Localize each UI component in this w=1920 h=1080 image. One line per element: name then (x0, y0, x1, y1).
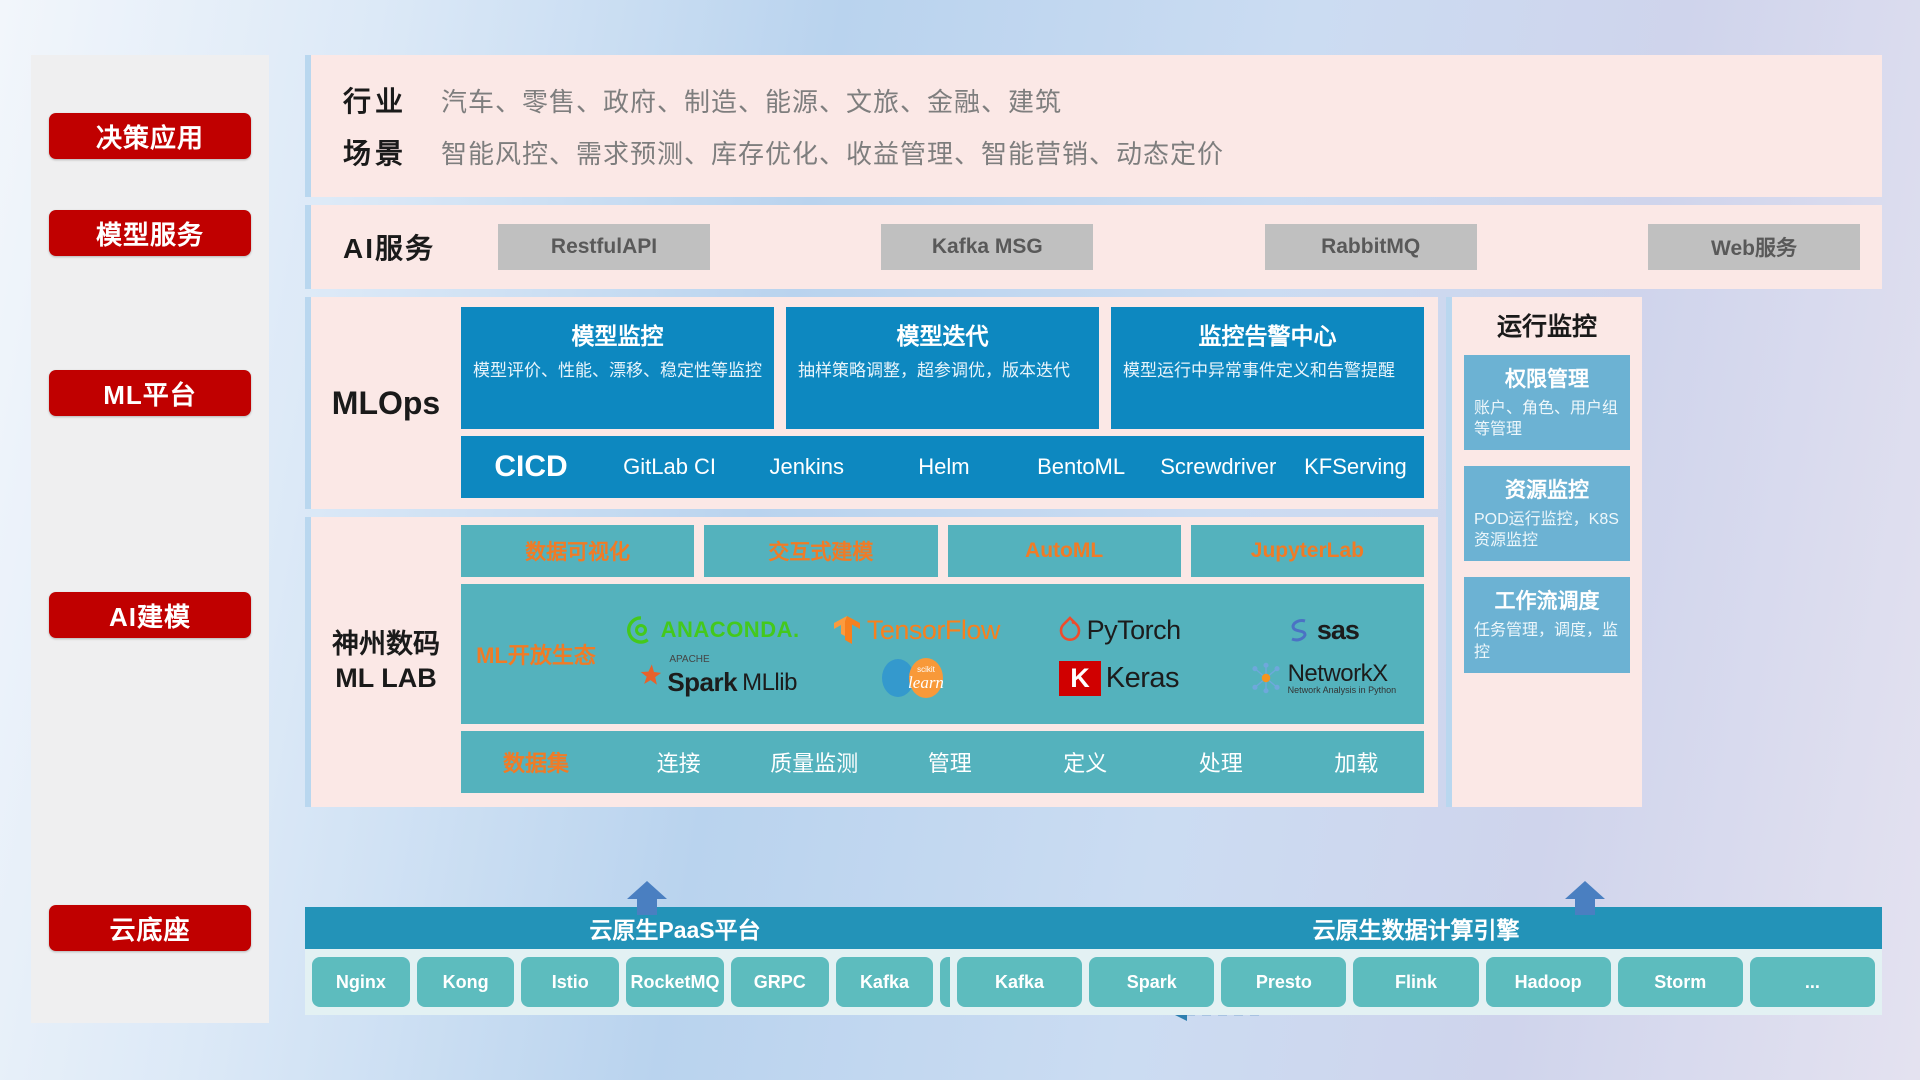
service-chip-kafka-msg[interactable]: Kafka MSG (881, 224, 1093, 270)
industry-value: 汽车、零售、政府、制造、能源、文旅、金融、建筑 (441, 82, 1062, 119)
cicd-item-gitlab-ci[interactable]: GitLab CI (601, 456, 738, 478)
industry-label: 行业 (311, 80, 441, 120)
tensorflow-icon (832, 614, 862, 646)
mlops-card-alert-center[interactable]: 监控告警中心 模型运行中异常事件定义和告警提醒 (1111, 307, 1424, 429)
dataset-item-define[interactable]: 定义 (1018, 746, 1154, 778)
scikit-learn-icon: scikit learn (876, 654, 956, 702)
tensorflow-logo: TensorFlow (814, 614, 1017, 646)
paas-chip-istio[interactable]: Istio (521, 957, 619, 1007)
decision-application-band: 行业 汽车、零售、政府、制造、能源、文旅、金融、建筑 场景 智能风控、需求预测、… (305, 55, 1882, 197)
keras-mark: K (1059, 661, 1101, 696)
scikit-learn-logo: scikit learn (814, 654, 1017, 702)
dataset-item-manage[interactable]: 管理 (882, 746, 1018, 778)
compute-chip-more[interactable]: ... (1750, 957, 1875, 1007)
card-title: 权限管理 (1474, 363, 1620, 393)
cicd-item-bentoml[interactable]: BentoML (1013, 456, 1150, 478)
paas-header: 云原生PaaS平台 (305, 907, 1045, 949)
monitor-card-workflow[interactable]: 工作流调度 任务管理，调度，监控 (1464, 577, 1630, 672)
compute-chip-flink[interactable]: Flink (1353, 957, 1478, 1007)
ml-ecosystem-label: ML开放生态 (461, 638, 611, 670)
card-title: 模型监控 (473, 317, 762, 351)
pytorch-icon (1058, 616, 1082, 644)
paas-chip-list: Nginx Kong Istio RocketMQ GRPC Kafka ... (305, 949, 1045, 1015)
networkx-icon (1249, 661, 1283, 695)
scenario-label: 场景 (311, 132, 441, 172)
cloud-paas-block: 云原生PaaS平台 Nginx Kong Istio RocketMQ GRPC… (305, 907, 1045, 1015)
dataset-row: 数据集 连接 质量监测 管理 定义 处理 加载 (461, 731, 1424, 793)
main-architecture-column: 行业 汽车、零售、政府、制造、能源、文旅、金融、建筑 场景 智能风控、需求预测、… (305, 55, 1882, 807)
paas-chip-rocketmq[interactable]: RocketMQ (626, 957, 724, 1007)
rail-item-decision[interactable]: 决策应用 (49, 113, 251, 159)
tool-chip-jupyterlab[interactable]: JupyterLab (1191, 525, 1424, 577)
industry-row: 行业 汽车、零售、政府、制造、能源、文旅、金融、建筑 (311, 74, 1882, 126)
monitor-card-resource[interactable]: 资源监控 POD运行监控，K8S资源监控 (1464, 466, 1630, 561)
compute-chip-hadoop[interactable]: Hadoop (1486, 957, 1611, 1007)
scenario-row: 场景 智能风控、需求预测、库存优化、收益管理、智能营销、动态定价 (311, 126, 1882, 178)
mlops-card-model-iteration[interactable]: 模型迭代 抽样策略调整，超参调优，版本迭代 (786, 307, 1099, 429)
compute-chip-kafka[interactable]: Kafka (957, 957, 1082, 1007)
dataset-item-process[interactable]: 处理 (1153, 746, 1289, 778)
card-desc: 模型评价、性能、漂移、稳定性等监控 (473, 360, 762, 383)
anaconda-icon (626, 615, 656, 645)
keras-wordmark: Keras (1106, 662, 1179, 695)
ml-tools-row: 数据可视化 交互式建模 AutoML JupyterLab (461, 525, 1424, 577)
spark-mllib-logo: APACHE Spark MLlib (611, 661, 814, 695)
compute-chip-spark[interactable]: Spark (1089, 957, 1214, 1007)
rail-item-ml-platform[interactable]: ML平台 (49, 370, 251, 416)
networkx-wordmark: NetworkX (1288, 662, 1397, 686)
spark-wordmark-group: APACHE Spark (667, 667, 737, 698)
svg-text:learn: learn (908, 673, 944, 692)
mllib-wordmark: MLlib (742, 669, 797, 697)
card-title: 模型迭代 (798, 317, 1087, 351)
dataset-item-list: 连接 质量监测 管理 定义 处理 加载 (611, 746, 1424, 778)
card-desc: 模型运行中异常事件定义和告警提醒 (1123, 360, 1412, 383)
scenario-value: 智能风控、需求预测、库存优化、收益管理、智能营销、动态定价 (441, 134, 1224, 171)
card-title: 监控告警中心 (1123, 317, 1412, 351)
card-desc: 账户、角色、用户组等管理 (1474, 398, 1620, 440)
tensorflow-wordmark: TensorFlow (867, 615, 1000, 646)
cloud-base-layer: 云原生PaaS平台 Nginx Kong Istio RocketMQ GRPC… (305, 885, 1882, 1025)
card-desc: 任务管理，调度，监控 (1474, 620, 1620, 662)
platform-row: MLOps 模型监控 模型评价、性能、漂移、稳定性等监控 模型迭代 抽样策略调整… (305, 297, 1882, 807)
tool-chip-automl[interactable]: AutoML (948, 525, 1181, 577)
ml-lab-label-line2: ML LAB (335, 662, 437, 696)
compute-chip-list: Kafka Spark Presto Flink Hadoop Storm ..… (950, 949, 1882, 1015)
dataset-item-quality[interactable]: 质量监测 (747, 746, 883, 778)
ecosystem-logo-grid: ANACONDA. TensorFlow (611, 606, 1424, 702)
mlops-card-model-monitoring[interactable]: 模型监控 模型评价、性能、漂移、稳定性等监控 (461, 307, 774, 429)
compute-header: 云原生数据计算引擎 (950, 907, 1882, 949)
sas-wordmark: sas (1317, 615, 1359, 646)
anaconda-logo: ANACONDA. (611, 615, 814, 645)
tool-chip-data-visualization[interactable]: 数据可视化 (461, 525, 694, 577)
ai-service-label: AI服务 (343, 227, 498, 267)
networkx-tagline: Network Analysis in Python (1288, 686, 1397, 695)
spark-icon (628, 661, 662, 695)
tool-chip-interactive-modeling[interactable]: 交互式建模 (704, 525, 937, 577)
dataset-item-connect[interactable]: 连接 (611, 746, 747, 778)
compute-up-arrow-icon (1563, 881, 1607, 915)
mlops-band: MLOps 模型监控 模型评价、性能、漂移、稳定性等监控 模型迭代 抽样策略调整… (305, 297, 1438, 509)
paas-chip-kong[interactable]: Kong (417, 957, 515, 1007)
service-chip-restfulapi[interactable]: RestfulAPI (498, 224, 710, 270)
paas-chip-kafka[interactable]: Kafka (836, 957, 934, 1007)
card-title: 工作流调度 (1474, 585, 1620, 615)
ml-lab-label-line1: 神州数码 (332, 628, 440, 662)
compute-chip-presto[interactable]: Presto (1221, 957, 1346, 1007)
sas-icon (1286, 616, 1312, 644)
runtime-monitor-title: 运行监控 (1464, 307, 1630, 343)
cicd-item-helm[interactable]: Helm (875, 456, 1012, 478)
mlops-label: MLOps (311, 297, 461, 509)
keras-logo: K Keras (1018, 661, 1221, 696)
rail-item-cloud-base[interactable]: 云底座 (49, 905, 251, 951)
ai-service-band: AI服务 RestfulAPI Kafka MSG RabbitMQ Web服务 (305, 205, 1882, 289)
cicd-item-kfserving[interactable]: KFServing (1287, 456, 1424, 478)
sas-logo: sas (1221, 615, 1424, 646)
compute-chip-storm[interactable]: Storm (1618, 957, 1743, 1007)
pytorch-logo: PyTorch (1018, 615, 1221, 646)
cicd-item-list: GitLab CI Jenkins Helm BentoML Screwdriv… (601, 456, 1424, 478)
left-rail: 决策应用 模型服务 ML平台 AI建模 云底座 (31, 55, 269, 1023)
anaconda-wordmark: ANACONDA. (661, 617, 800, 643)
ai-modeling-band: 神州数码 ML LAB 数据可视化 交互式建模 AutoML JupyterLa… (305, 517, 1438, 807)
cicd-item-screwdriver[interactable]: Screwdriver (1150, 456, 1287, 478)
card-desc: 抽样策略调整，超参调优，版本迭代 (798, 360, 1087, 383)
service-chip-rabbitmq[interactable]: RabbitMQ (1265, 224, 1477, 270)
card-title: 资源监控 (1474, 474, 1620, 504)
spark-wordmark: Spark (667, 667, 737, 697)
ai-service-chip-list: RestfulAPI Kafka MSG RabbitMQ Web服务 (498, 224, 1882, 270)
cloud-compute-block: 云原生数据计算引擎 Kafka Spark Presto Flink Hadoo… (950, 907, 1882, 1015)
rail-item-ai-modeling[interactable]: AI建模 (49, 592, 251, 638)
paas-chip-nginx[interactable]: Nginx (312, 957, 410, 1007)
mlops-card-list: 模型监控 模型评价、性能、漂移、稳定性等监控 模型迭代 抽样策略调整，超参调优，… (461, 307, 1424, 429)
apache-tag: APACHE (669, 654, 709, 665)
ml-ecosystem-row: ML开放生态 ANACONDA. (461, 584, 1424, 724)
paas-chip-grpc[interactable]: GRPC (731, 957, 829, 1007)
card-desc: POD运行监控，K8S资源监控 (1474, 509, 1620, 551)
runtime-monitor-column: 运行监控 权限管理 账户、角色、用户组等管理 资源监控 POD运行监控，K8S资… (1446, 297, 1642, 807)
pytorch-wordmark: PyTorch (1087, 615, 1181, 646)
dataset-label: 数据集 (461, 746, 611, 778)
rail-item-model-service[interactable]: 模型服务 (49, 210, 251, 256)
cicd-item-jenkins[interactable]: Jenkins (738, 456, 875, 478)
monitor-card-permission[interactable]: 权限管理 账户、角色、用户组等管理 (1464, 355, 1630, 450)
dataset-item-load[interactable]: 加载 (1289, 746, 1425, 778)
cicd-label: CICD (461, 450, 601, 484)
paas-up-arrow-icon (625, 881, 669, 915)
service-chip-web[interactable]: Web服务 (1648, 224, 1860, 270)
cicd-bar: CICD GitLab CI Jenkins Helm BentoML Scre… (461, 436, 1424, 498)
ml-lab-label: 神州数码 ML LAB (311, 517, 461, 807)
networkx-logo: NetworkX Network Analysis in Python (1221, 661, 1424, 695)
